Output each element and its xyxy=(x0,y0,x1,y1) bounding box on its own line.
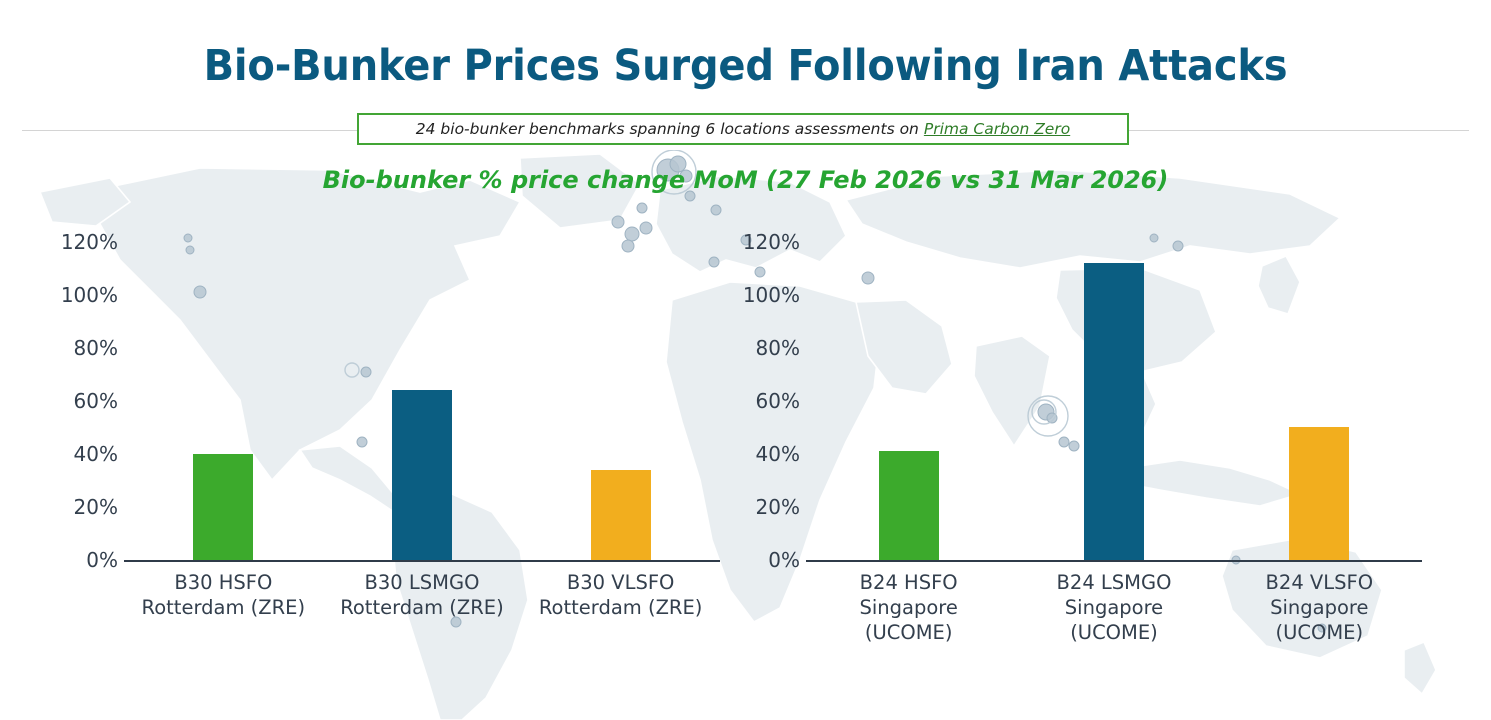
plot-area-right: 0%20%40%60%80%100%120% xyxy=(722,215,1422,560)
subtitle-callout-box: 24 bio-bunker benchmarks spanning 6 loca… xyxy=(357,113,1129,145)
bar-slot xyxy=(124,215,323,560)
y-axis-tick-label: 60% xyxy=(756,389,800,413)
y-axis-tick-label: 0% xyxy=(768,548,800,572)
bar-slot xyxy=(521,215,720,560)
category-label: B30 VLSFO Rotterdam (ZRE) xyxy=(521,570,720,620)
chart-panel-left: 0%20%40%60%80%100%120% B30 HSFO Rotterda… xyxy=(40,215,720,685)
y-axis-tick-label: 100% xyxy=(743,283,800,307)
bar[interactable] xyxy=(193,454,253,560)
y-axis-tick-label: 0% xyxy=(86,548,118,572)
category-label: B30 LSMGO Rotterdam (ZRE) xyxy=(323,570,522,620)
y-axis-tick-label: 40% xyxy=(756,442,800,466)
y-axis-tick-label: 20% xyxy=(756,495,800,519)
bar[interactable] xyxy=(1084,263,1144,560)
prima-carbon-zero-link[interactable]: Prima Carbon Zero xyxy=(924,120,1070,138)
category-label: B24 VLSFO Singapore (UCOME) xyxy=(1217,570,1422,645)
chart-heading: Bio-bunker % price change MoM (27 Feb 20… xyxy=(0,166,1491,194)
bar[interactable] xyxy=(1289,427,1349,560)
y-axis-tick-label: 60% xyxy=(74,389,118,413)
bar[interactable] xyxy=(392,390,452,560)
y-axis-right: 0%20%40%60%80%100%120% xyxy=(722,215,806,560)
x-axis-line-right xyxy=(806,560,1422,562)
chart-panel-right: 0%20%40%60%80%100%120% B24 HSFO Singapor… xyxy=(722,215,1422,685)
page-title: Bio-Bunker Prices Surged Following Iran … xyxy=(52,0,1439,89)
bar[interactable] xyxy=(591,470,651,560)
bar-slot xyxy=(1011,215,1216,560)
plot-area-left: 0%20%40%60%80%100%120% xyxy=(40,215,720,560)
bar-slot xyxy=(1217,215,1422,560)
subtitle-text: 24 bio-bunker benchmarks spanning 6 loca… xyxy=(416,120,919,138)
category-label: B24 HSFO Singapore (UCOME) xyxy=(806,570,1011,645)
y-axis-tick-label: 80% xyxy=(74,336,118,360)
bars-area-left xyxy=(124,215,720,560)
bar-slot xyxy=(806,215,1011,560)
bar-slot xyxy=(323,215,522,560)
category-label: B30 HSFO Rotterdam (ZRE) xyxy=(124,570,323,620)
y-axis-tick-label: 40% xyxy=(74,442,118,466)
y-axis-tick-label: 120% xyxy=(743,230,800,254)
y-axis-left: 0%20%40%60%80%100%120% xyxy=(40,215,124,560)
category-label: B24 LSMGO Singapore (UCOME) xyxy=(1011,570,1216,645)
y-axis-tick-label: 80% xyxy=(756,336,800,360)
header: Bio-Bunker Prices Surged Following Iran … xyxy=(0,0,1491,89)
y-axis-tick-label: 120% xyxy=(61,230,118,254)
charts-container: 0%20%40%60%80%100%120% B30 HSFO Rotterda… xyxy=(0,0,1491,720)
bars-area-right xyxy=(806,215,1422,560)
x-axis-line-left xyxy=(124,560,720,562)
y-axis-tick-label: 100% xyxy=(61,283,118,307)
bar[interactable] xyxy=(879,451,939,560)
y-axis-tick-label: 20% xyxy=(74,495,118,519)
